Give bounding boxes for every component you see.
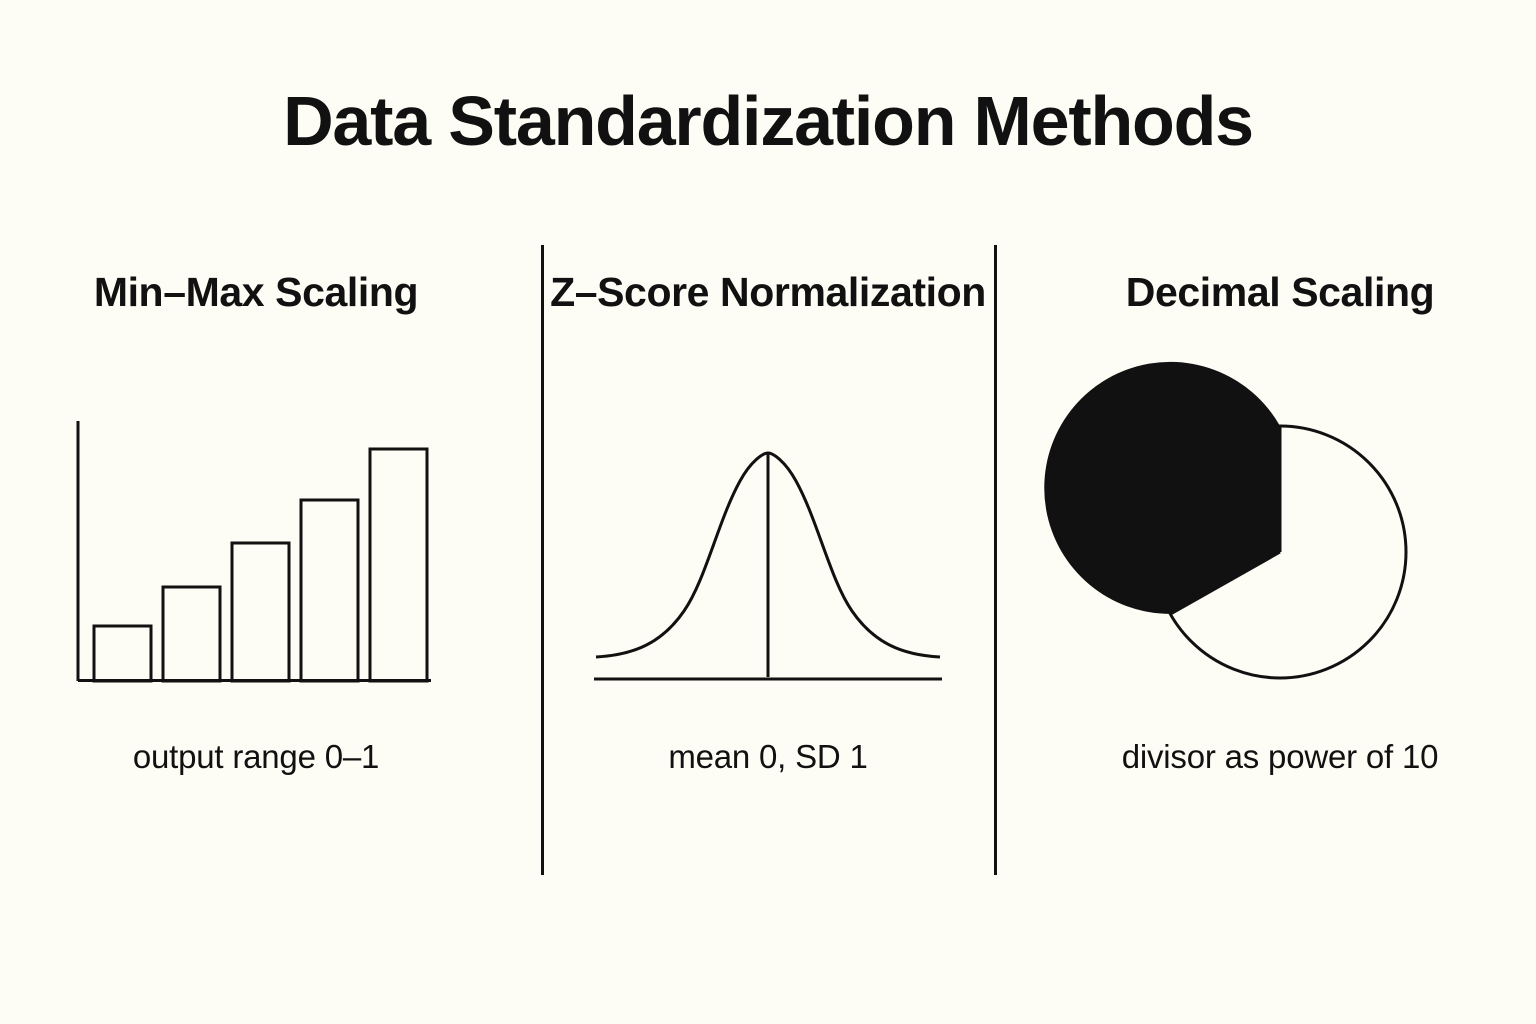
methods-columns: Min–Max Scaling output range 0–1 [0,245,1536,885]
bell-curve-svg [588,415,948,695]
poster-root: Data Standardization Methods Min–Max Sca… [0,0,1536,1024]
bar-chart-svg [66,415,446,695]
pie-chart-svg [1140,415,1420,695]
column-heading-decimal-scaling: Decimal Scaling [1126,267,1434,377]
column-caption-min-max: output range 0–1 [133,737,379,777]
column-min-max-scaling: Min–Max Scaling output range 0–1 [0,245,512,885]
figure-pie-chart [1024,395,1536,695]
column-caption-decimal-scaling: divisor as power of 10 [1122,737,1439,777]
column-z-score-normalization: Z–Score Normalization mean 0, SD 1 [512,245,1024,885]
column-heading-z-score: Z–Score Normalization [550,267,986,377]
figure-bar-chart [0,395,512,695]
bar-4 [301,500,358,681]
bar-2 [163,587,220,681]
bar-5 [370,449,427,681]
column-caption-z-score: mean 0, SD 1 [668,737,867,777]
column-decimal-scaling: Decimal Scaling divisor as power of 10 [1024,245,1536,885]
bar-1 [94,626,151,681]
figure-bell-curve [512,395,1024,695]
column-heading-min-max: Min–Max Scaling [94,267,418,377]
bar-3 [232,543,289,681]
page-title: Data Standardization Methods [0,86,1536,156]
pie-slice-shaded [1044,362,1280,614]
